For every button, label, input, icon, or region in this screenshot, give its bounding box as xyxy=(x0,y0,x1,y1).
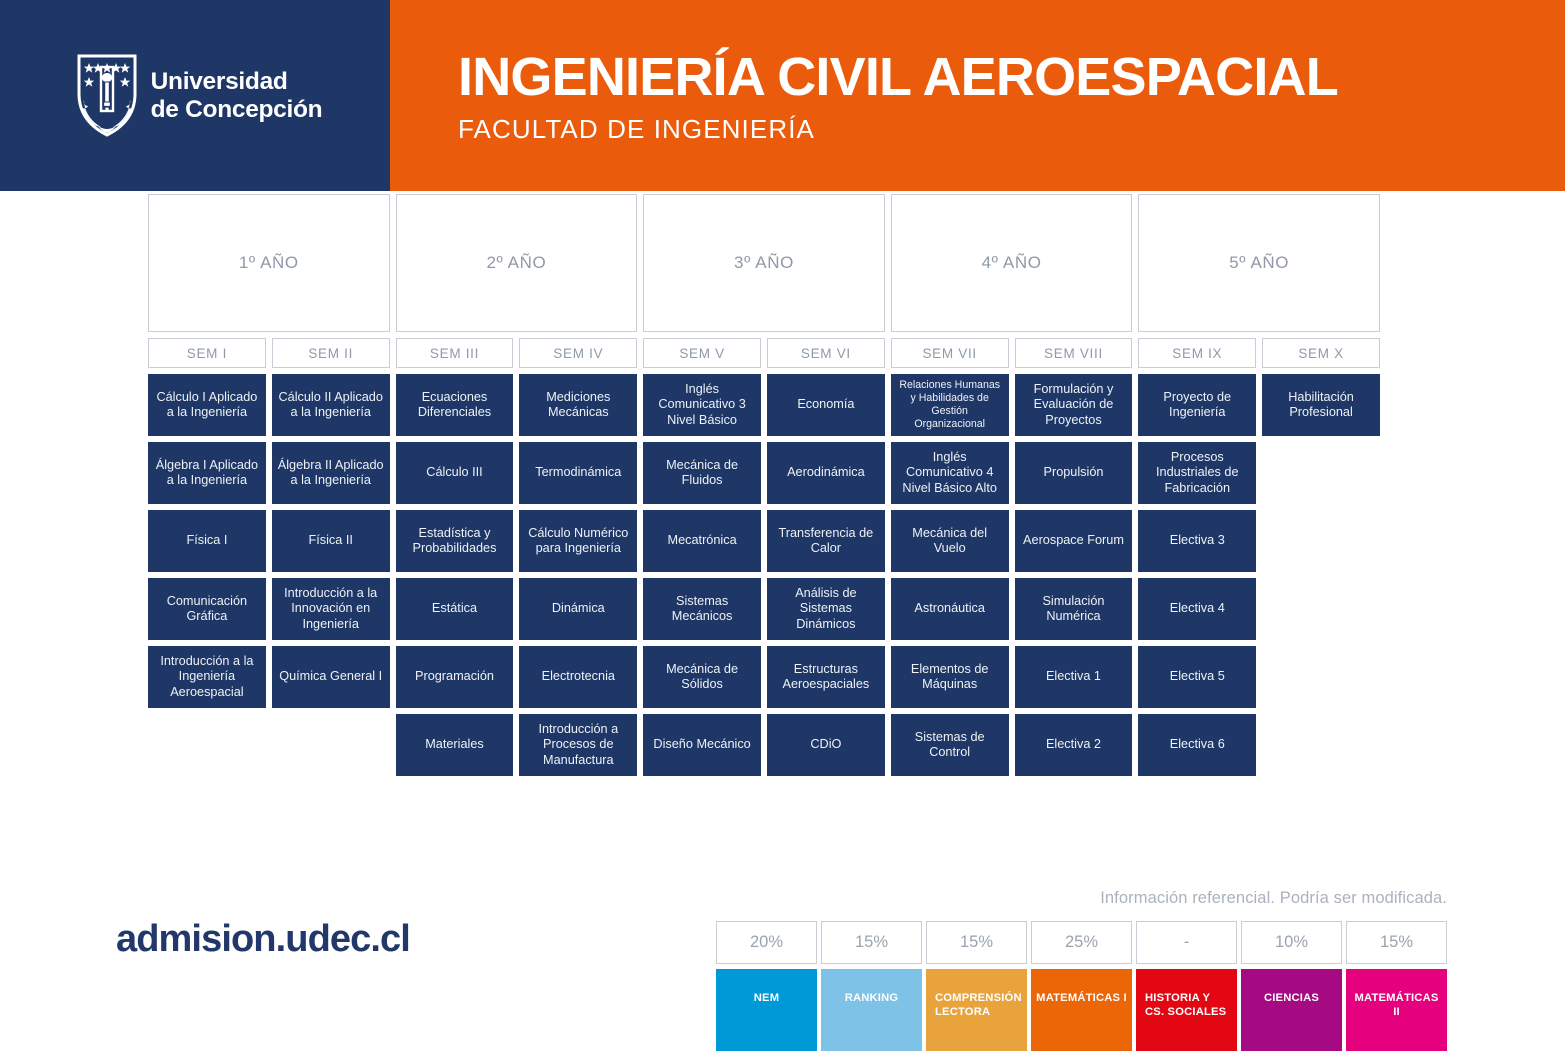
course-card[interactable]: Elementos de Máquinas xyxy=(891,646,1009,708)
course-card[interactable]: Álgebra II Aplicado a la Ingeniería xyxy=(272,442,390,504)
semester-header-4: SEM IV xyxy=(519,338,637,368)
weight-factor-cell: NEM xyxy=(716,969,817,1051)
course-card[interactable]: Electrotecnia xyxy=(519,646,637,708)
course-card[interactable]: Diseño Mecánico xyxy=(643,714,761,776)
page-title: INGENIERÍA CIVIL AEROESPACIAL xyxy=(458,50,1565,104)
header-title-panel: INGENIERÍA CIVIL AEROESPACIAL FACULTAD D… xyxy=(390,0,1565,191)
course-card[interactable]: Simulación Numérica xyxy=(1015,578,1133,640)
course-card[interactable]: Física II xyxy=(272,510,390,572)
weight-percent-cell: 15% xyxy=(926,921,1027,964)
course-column-sem4: Mediciones Mecánicas Termodinámica Cálcu… xyxy=(519,374,637,782)
course-card[interactable]: Sistemas Mecánicos xyxy=(643,578,761,640)
semester-header-9: SEM IX xyxy=(1138,338,1256,368)
course-columns: Cálculo I Aplicado a la Ingeniería Álgeb… xyxy=(148,374,1380,782)
course-card[interactable]: Aerospace Forum xyxy=(1015,510,1133,572)
semester-header-8: SEM VIII xyxy=(1015,338,1133,368)
course-card[interactable]: Álgebra I Aplicado a la Ingeniería xyxy=(148,442,266,504)
semester-header-10: SEM X xyxy=(1262,338,1380,368)
course-column-sem10: Habilitación Profesional xyxy=(1262,374,1380,782)
logo-line-1: Universidad xyxy=(151,68,323,96)
semester-header-6: SEM VI xyxy=(767,338,885,368)
course-card[interactable]: Propulsión xyxy=(1015,442,1133,504)
course-card[interactable]: Aerodinámica xyxy=(767,442,885,504)
course-card[interactable]: Mecánica del Vuelo xyxy=(891,510,1009,572)
course-card[interactable]: Relaciones Humanas y Habilidades de Gest… xyxy=(891,374,1009,436)
course-card[interactable]: Electiva 1 xyxy=(1015,646,1133,708)
page-subtitle: FACULTAD DE INGENIERÍA xyxy=(458,116,1565,142)
course-card[interactable]: Mecánica de Fluidos xyxy=(643,442,761,504)
logo-line-2: de Concepción xyxy=(151,96,323,124)
course-card[interactable]: Formulación y Evaluación de Proyectos xyxy=(1015,374,1133,436)
course-column-sem7: Relaciones Humanas y Habilidades de Gest… xyxy=(891,374,1009,782)
year-cell-5: 5º AÑO xyxy=(1138,194,1380,332)
course-column-sem6: Economía Aerodinámica Transferencia de C… xyxy=(767,374,885,782)
weight-factor-cell: HISTORIA Y CS. SOCIALES xyxy=(1136,969,1237,1051)
weight-percent-row: 20% 15% 15% 25% - 10% 15% xyxy=(716,921,1447,964)
course-card[interactable]: Cálculo I Aplicado a la Ingeniería xyxy=(148,374,266,436)
course-card[interactable]: Sistemas de Control xyxy=(891,714,1009,776)
course-card[interactable]: Economía xyxy=(767,374,885,436)
year-cell-2: 2º AÑO xyxy=(396,194,638,332)
page-header: Universidad de Concepción INGENIERÍA CIV… xyxy=(0,0,1565,191)
course-card[interactable]: Transferencia de Calor xyxy=(767,510,885,572)
course-card[interactable]: Habilitación Profesional xyxy=(1262,374,1380,436)
header-brand-panel: Universidad de Concepción xyxy=(0,0,390,191)
course-column-sem8: Formulación y Evaluación de Proyectos Pr… xyxy=(1015,374,1133,782)
course-card[interactable]: Introducción a la Ingeniería Aeroespacia… xyxy=(148,646,266,708)
course-card[interactable]: Astronáutica xyxy=(891,578,1009,640)
weight-percent-cell: 25% xyxy=(1031,921,1132,964)
course-card[interactable]: Estructuras Aeroespaciales xyxy=(767,646,885,708)
course-column-sem2: Cálculo II Aplicado a la Ingeniería Álge… xyxy=(272,374,390,782)
semester-header-2: SEM II xyxy=(272,338,390,368)
weight-percent-cell: 20% xyxy=(716,921,817,964)
weight-percent-cell: 15% xyxy=(1346,921,1447,964)
referential-info-note: Información referencial. Podría ser modi… xyxy=(1100,889,1447,908)
course-column-sem3: Ecuaciones Diferenciales Cálculo III Est… xyxy=(396,374,514,782)
course-card[interactable]: Materiales xyxy=(396,714,514,776)
course-card[interactable]: Electiva 4 xyxy=(1138,578,1256,640)
course-card[interactable]: Inglés Comunicativo 4 Nivel Básico Alto xyxy=(891,442,1009,504)
semester-header-1: SEM I xyxy=(148,338,266,368)
semester-header-3: SEM III xyxy=(396,338,514,368)
course-card[interactable]: Electiva 3 xyxy=(1138,510,1256,572)
course-card[interactable]: CDiO xyxy=(767,714,885,776)
course-card[interactable]: Ecuaciones Diferenciales xyxy=(396,374,514,436)
course-card[interactable]: Electiva 5 xyxy=(1138,646,1256,708)
semester-header-row: SEM I SEM II SEM III SEM IV SEM V SEM VI… xyxy=(148,338,1380,368)
course-card[interactable]: Cálculo II Aplicado a la Ingeniería xyxy=(272,374,390,436)
admission-url[interactable]: admision.udec.cl xyxy=(116,918,410,961)
university-logo: Universidad de Concepción xyxy=(76,54,323,137)
weight-percent-cell: 15% xyxy=(821,921,922,964)
weight-factor-row: NEM RANKING COMPRENSIÓN LECTORA MATEMÁTI… xyxy=(716,969,1447,1051)
weight-factor-cell: MATEMÁTICAS I xyxy=(1031,969,1132,1051)
course-card[interactable]: Mecatrónica xyxy=(643,510,761,572)
course-card[interactable]: Introducción a Procesos de Manufactura xyxy=(519,714,637,776)
course-card[interactable]: Dinámica xyxy=(519,578,637,640)
semester-header-7: SEM VII xyxy=(891,338,1009,368)
course-column-sem9: Proyecto de Ingeniería Procesos Industri… xyxy=(1138,374,1256,782)
weight-factor-cell: RANKING xyxy=(821,969,922,1051)
course-card[interactable]: Procesos Industriales de Fabricación xyxy=(1138,442,1256,504)
course-card[interactable]: Mecánica de Sólidos xyxy=(643,646,761,708)
course-card[interactable]: Análisis de Sistemas Dinámicos xyxy=(767,578,885,640)
course-card[interactable]: Introducción a la Innovación en Ingenier… xyxy=(272,578,390,640)
course-card[interactable]: Comunicación Gráfica xyxy=(148,578,266,640)
course-card[interactable]: Electiva 6 xyxy=(1138,714,1256,776)
logo-wordmark: Universidad de Concepción xyxy=(151,68,323,123)
year-cell-1: 1º AÑO xyxy=(148,194,390,332)
course-card[interactable]: Cálculo Numérico para Ingeniería xyxy=(519,510,637,572)
year-header-row: 1º AÑO 2º AÑO 3º AÑO 4º AÑO 5º AÑO xyxy=(148,194,1380,332)
course-card[interactable]: Electiva 2 xyxy=(1015,714,1133,776)
weight-percent-cell: - xyxy=(1136,921,1237,964)
course-card[interactable]: Cálculo III xyxy=(396,442,514,504)
course-card[interactable]: Física I xyxy=(148,510,266,572)
course-column-sem1: Cálculo I Aplicado a la Ingeniería Álgeb… xyxy=(148,374,266,782)
udec-crest-icon xyxy=(76,54,138,137)
course-card[interactable]: Química General I xyxy=(272,646,390,708)
weight-factor-cell: MATEMÁTICAS II xyxy=(1346,969,1447,1051)
course-card[interactable]: Termodinámica xyxy=(519,442,637,504)
course-card[interactable]: Proyecto de Ingeniería xyxy=(1138,374,1256,436)
curriculum-grid: 1º AÑO 2º AÑO 3º AÑO 4º AÑO 5º AÑO SEM I… xyxy=(148,194,1380,782)
course-card[interactable]: Mediciones Mecánicas xyxy=(519,374,637,436)
weight-percent-cell: 10% xyxy=(1241,921,1342,964)
year-cell-3: 3º AÑO xyxy=(643,194,885,332)
semester-header-5: SEM V xyxy=(643,338,761,368)
year-cell-4: 4º AÑO xyxy=(891,194,1133,332)
course-card[interactable]: Inglés Comunicativo 3 Nivel Básico xyxy=(643,374,761,436)
weight-factor-cell: CIENCIAS xyxy=(1241,969,1342,1051)
weight-factor-cell: COMPRENSIÓN LECTORA xyxy=(926,969,1027,1051)
course-card[interactable]: Estadística y Probabilidades xyxy=(396,510,514,572)
course-card[interactable]: Programación xyxy=(396,646,514,708)
course-card[interactable]: Estática xyxy=(396,578,514,640)
course-column-sem5: Inglés Comunicativo 3 Nivel Básico Mecán… xyxy=(643,374,761,782)
